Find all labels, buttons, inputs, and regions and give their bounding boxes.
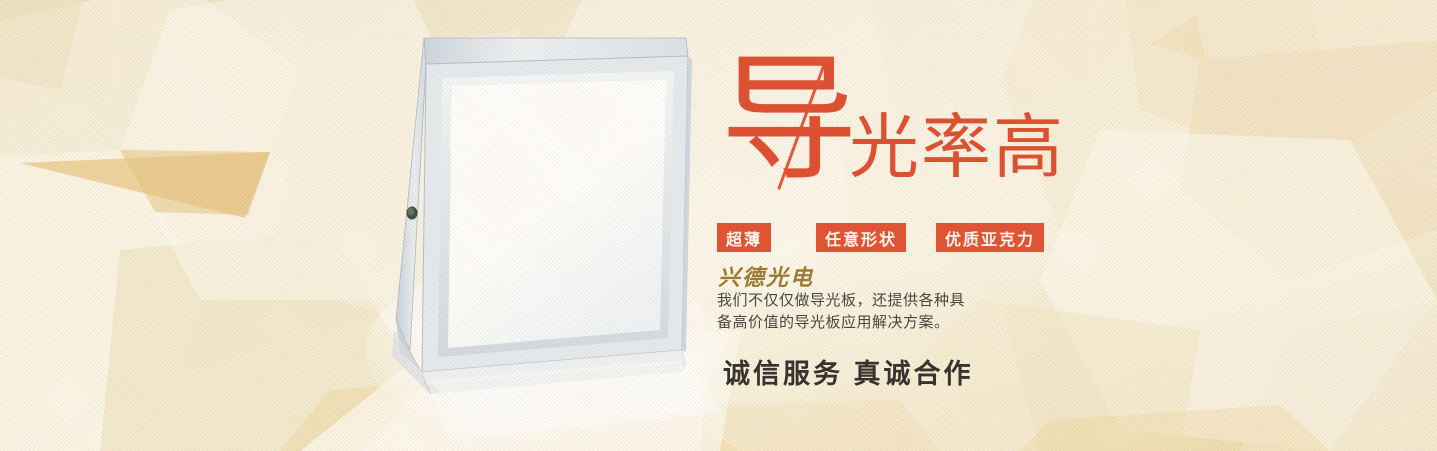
led-panel-product-image — [330, 20, 730, 440]
feature-badges: 超薄 任意形状 优质亚克力 — [717, 223, 1117, 255]
headline-big-char: 导 — [720, 52, 858, 190]
copy-block: 导 光率高 超薄 任意形状 优质亚克力 兴德光电 我们不仅仅做导光板，还提供各种… — [705, 0, 1125, 451]
brand-name: 兴德光电 — [718, 260, 814, 292]
feature-badge-ultra-thin[interactable]: 超薄 — [717, 223, 771, 252]
description-line-2: 备高价值的导光板应用解决方案。 — [717, 313, 1017, 335]
headline-rest: 光率高 — [849, 114, 1065, 184]
description: 我们不仅仅做导光板，还提供各种具 备高价值的导光板应用解决方案。 — [717, 291, 1017, 335]
tagline: 诚信服务 真诚合作 — [723, 352, 974, 391]
headline: 导 光率高 — [715, 52, 1115, 212]
feature-badge-any-shape[interactable]: 任意形状 — [816, 223, 906, 252]
feature-badge-premium-acrylic[interactable]: 优质亚克力 — [936, 223, 1044, 252]
description-line-1: 我们不仅仅做导光板，还提供各种具 — [717, 291, 1017, 313]
banner-root: 导 光率高 超薄 任意形状 优质亚克力 兴德光电 我们不仅仅做导光板，还提供各种… — [0, 0, 1437, 451]
